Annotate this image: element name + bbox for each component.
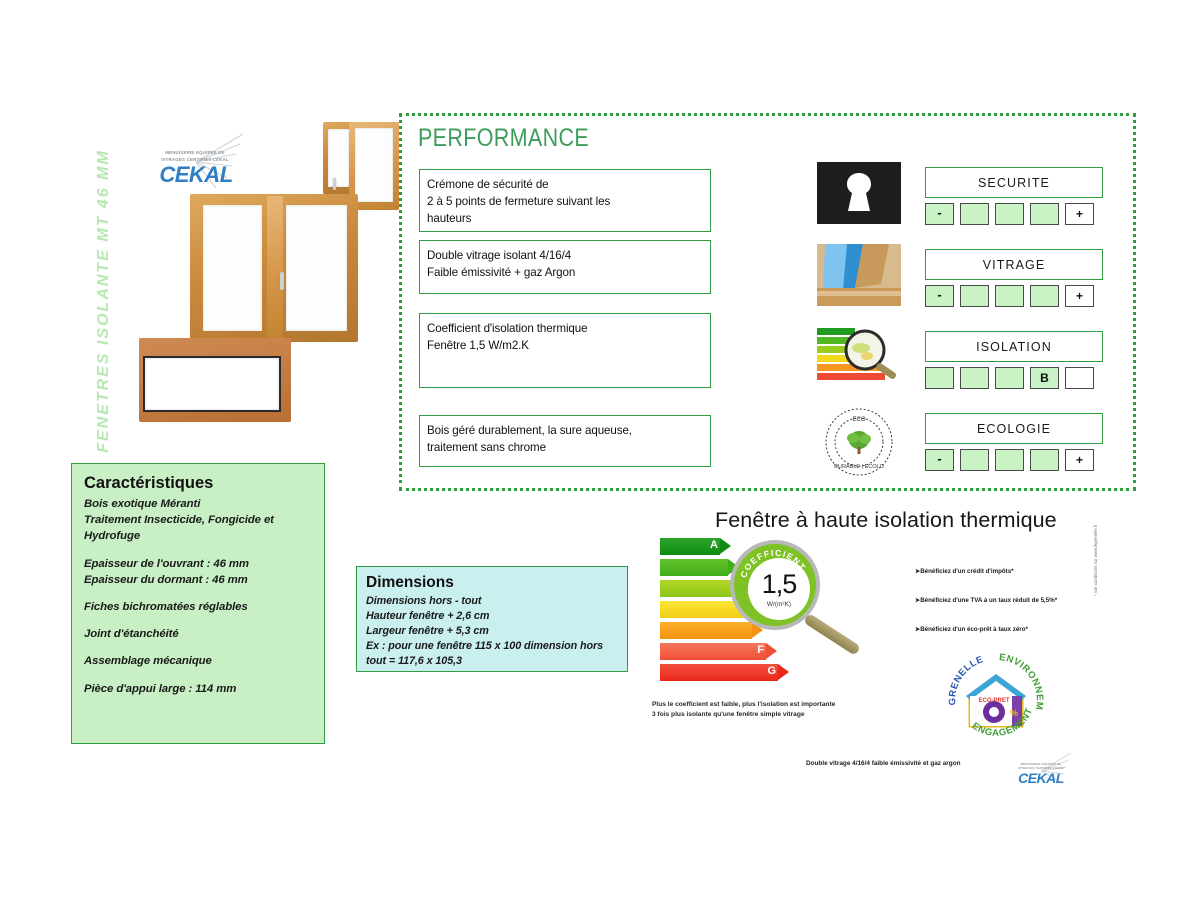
grenelle-environnement-logo: ECO-PRET % GRENELLE ENVIRONNEMENT ENGAGE… [948, 650, 1044, 738]
caract-line: Epaisseur du dormant : 46 mm [84, 572, 312, 588]
caract-line: Epaisseur de l'ouvrant : 46 mm [84, 556, 312, 572]
spacer [84, 588, 312, 599]
benefit-item: ➤Bénéficiez d'une TVA à un taux réduit d… [915, 597, 1095, 604]
rating-cell-minus[interactable]: - [925, 449, 954, 471]
rating-cells-ecologie: - + [925, 449, 1094, 471]
dimensions-line: tout = 117,6 x 105,3 [366, 654, 618, 669]
caract-line: Fiches bichromatées réglables [84, 599, 312, 615]
spacer [84, 545, 312, 556]
spacer [84, 670, 312, 681]
coefficient-value-disc: 1,5 W/(m²K) [748, 558, 810, 620]
rating-cell-minus[interactable]: - [925, 285, 954, 307]
caract-line: Hydrofuge [84, 528, 312, 544]
caption-line-1: Plus le coefficient est faible, plus l'i… [652, 700, 912, 710]
double-glazing-note: Double vitrage 4/16/4 faible émissivité … [806, 760, 961, 767]
cekal-wordmark: CEKAL [150, 162, 242, 188]
caract-line: Pièce d'appui large : 114 mm [84, 681, 312, 697]
energy-letter-g: G [767, 665, 776, 677]
rating-cell[interactable] [960, 449, 989, 471]
rating-cell-plus[interactable]: + [1065, 449, 1094, 471]
rating-label-vitrage: VITRAGE [925, 249, 1103, 280]
benefit-item: ➤Bénéficiez d'un éco-prêt à taux zéro* [915, 626, 1095, 633]
cekal-logo: MENUISERIE EQUIPEE DE VITRAGES CERTIFIES… [144, 132, 248, 194]
rating-cell[interactable] [1030, 203, 1059, 225]
feature-box-1: Crémone de sécurité de 2 à 5 points de f… [419, 169, 711, 232]
slide-canvas: FENETRES ISOLANTE MT 46 MM MENUISERIE EQ… [0, 0, 1202, 901]
rating-cell[interactable] [1065, 367, 1094, 389]
vertical-side-title: FENETRES ISOLANTE MT 46 MM [95, 131, 121, 471]
energy-caption: Plus le coefficient est faible, plus l'i… [652, 700, 912, 720]
rating-label-ecologie: ECOLOGIE [925, 413, 1103, 444]
rating-cells-securite: - + [925, 203, 1094, 225]
rating-cell[interactable] [960, 367, 989, 389]
magnifier-ring: COEFFICIENT TRANSMISSION THERMIQUE 1,5 W… [730, 540, 820, 630]
caract-line: Joint d'étanchéité [84, 626, 312, 642]
feature-box-4: Bois géré durablement, la sure aqueuse, … [419, 415, 711, 467]
energy-letter-f: F [757, 644, 764, 656]
caption-line-2: 3 fois plus isolante qu'une fenêtre simp… [652, 710, 912, 720]
benefit-item: ➤Bénéficiez d'un crédit d'impôts* [915, 568, 1095, 575]
rating-cell-b[interactable]: B [1030, 367, 1059, 389]
rating-cell[interactable] [995, 203, 1024, 225]
feature-box-3: Coefficient d'isolation thermique Fenêtr… [419, 313, 711, 388]
keyhole-icon [817, 162, 901, 224]
rating-cell[interactable] [1030, 285, 1059, 307]
rating-cell[interactable] [925, 367, 954, 389]
dimensions-heading: Dimensions [366, 574, 618, 592]
dimensions-line: Hauteur fenêtre + 2,6 cm [366, 609, 618, 624]
rating-cell[interactable] [960, 203, 989, 225]
coefficient-unit: W/(m²K) [767, 601, 791, 608]
coefficient-magnifier: COEFFICIENT TRANSMISSION THERMIQUE 1,5 W… [730, 540, 820, 630]
spacer [84, 615, 312, 626]
dimensions-line: Ex : pour une fenêtre 115 x 100 dimensio… [366, 639, 618, 654]
dimensions-line: Dimensions hors - tout [366, 594, 618, 609]
rating-cell[interactable] [1030, 449, 1059, 471]
svg-text:ECO: ECO [852, 417, 865, 423]
svg-text:ECO-PRET: ECO-PRET [978, 698, 1009, 704]
dimensions-line: Largeur fenêtre + 5,3 cm [366, 624, 618, 639]
rating-cell[interactable] [995, 367, 1024, 389]
rating-cell[interactable] [960, 285, 989, 307]
dimensions-box: Dimensions Dimensions hors - tout Hauteu… [356, 566, 628, 672]
promo-footnote: * voir conditions sur www.legrenelle.fr [1093, 506, 1098, 596]
svg-text:DURABLE | ECOLO: DURABLE | ECOLO [834, 464, 884, 470]
rating-cell-plus[interactable]: + [1065, 285, 1094, 307]
rating-label-isolation: ISOLATION [925, 331, 1103, 362]
rating-cell[interactable] [995, 449, 1024, 471]
promo-title: Fenêtre à haute isolation thermique [715, 508, 1057, 533]
rating-cells-vitrage: - + [925, 285, 1094, 307]
caract-line: Assemblage mécanique [84, 653, 312, 669]
glazing-icon [817, 244, 901, 306]
coefficient-value: 1,5 [762, 571, 797, 598]
performance-title: PERFORMANCE [418, 124, 589, 153]
caracteristiques-heading: Caractéristiques [84, 474, 312, 493]
caracteristiques-box: Caractéristiques Bois exotique Méranti T… [71, 463, 325, 744]
caract-line: Traitement Insecticide, Fongicide et [84, 512, 312, 528]
rating-cell[interactable] [995, 285, 1024, 307]
feature-box-2: Double vitrage isolant 4/16/4 Faible émi… [419, 240, 711, 294]
cekal-wordmark: CEKAL [1011, 770, 1071, 786]
rating-cells-isolation: B [925, 367, 1094, 389]
energy-letter-a: A [710, 539, 718, 551]
svg-text:%: % [1010, 708, 1018, 718]
caract-line: Bois exotique Méranti [84, 496, 312, 512]
rating-cell-plus[interactable]: + [1065, 203, 1094, 225]
cekal-logo-footer: MENUISERIE EQUIPEE DE VITRAGES CERTIFIES… [1008, 752, 1074, 792]
benefits-list: ➤Bénéficiez d'un crédit d'impôts* ➤Bénéf… [915, 568, 1095, 655]
rating-cell-minus[interactable]: - [925, 203, 954, 225]
energy-label-graphic: A F G COE [660, 538, 835, 693]
rating-label-securite: SECURITE [925, 167, 1103, 198]
spacer [84, 642, 312, 653]
energy-magnifier-icon [817, 326, 901, 388]
eco-stamp-icon: ECO DURABLE | ECOLO [817, 406, 901, 478]
